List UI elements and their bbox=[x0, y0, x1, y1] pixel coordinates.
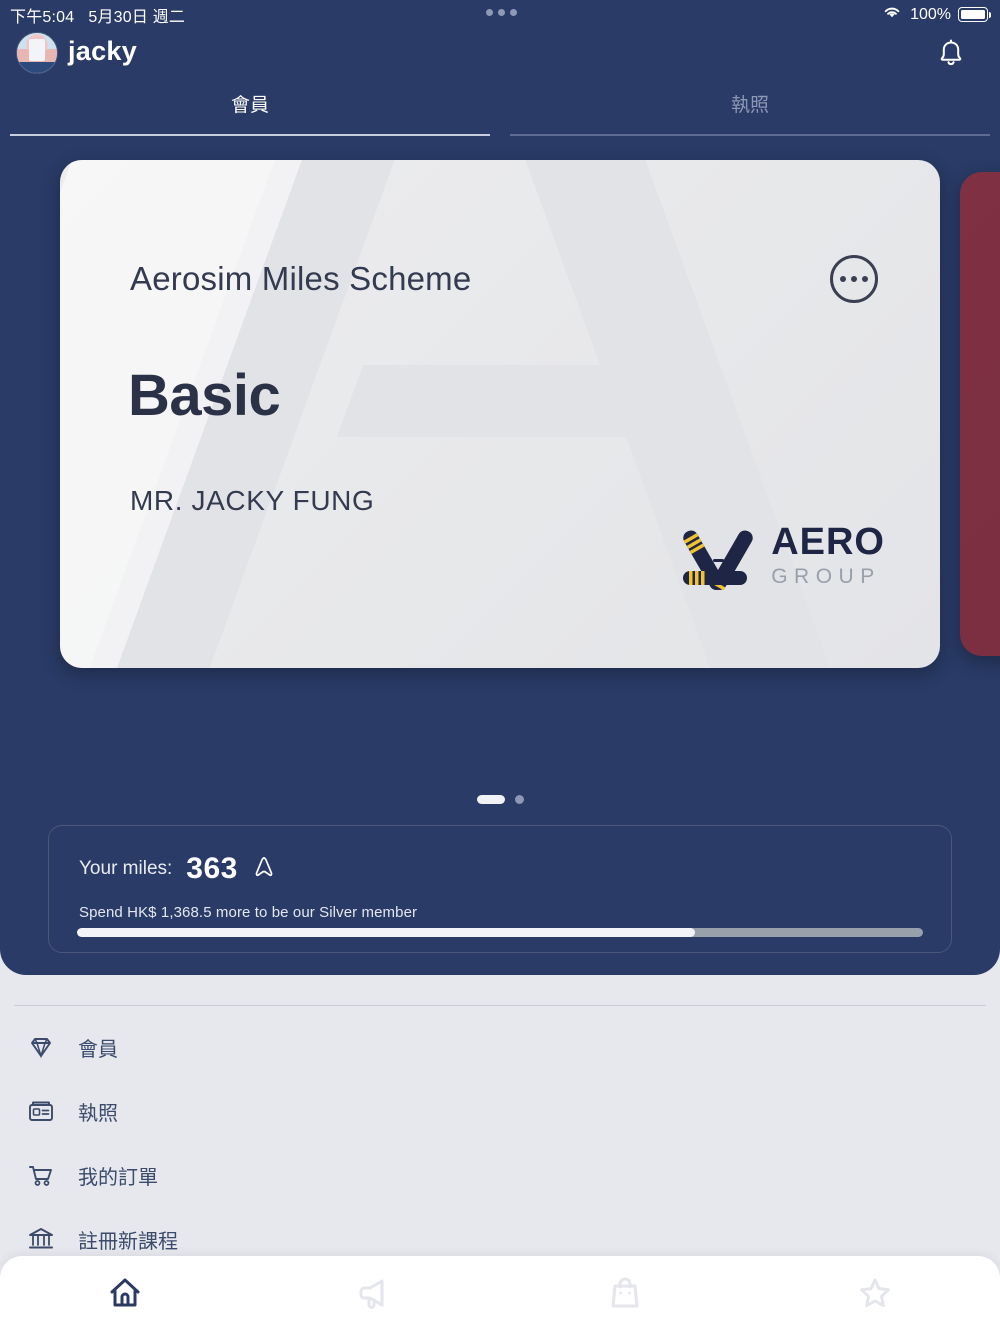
battery-percent-label: 100% bbox=[910, 6, 951, 24]
menu-item-enroll-course-label: 註冊新課程 bbox=[78, 1225, 178, 1254]
status-date: 5月30日 週二 bbox=[88, 3, 185, 27]
miles-progress-track bbox=[77, 928, 923, 937]
app-header: jacky bbox=[0, 28, 1000, 78]
top-navy-panel: 下午5:04 5月30日 週二 100% jacky bbox=[0, 0, 1000, 975]
tab-licenses-underline bbox=[510, 134, 990, 136]
membership-card-carousel[interactable]: Aerosim Miles Scheme Basic MR. JACKY FUN… bbox=[0, 160, 1000, 675]
tab-licenses[interactable]: 執照 bbox=[500, 84, 1000, 136]
nav-favorites[interactable] bbox=[750, 1256, 1000, 1334]
membership-card-primary[interactable]: Aerosim Miles Scheme Basic MR. JACKY FUN… bbox=[60, 160, 940, 668]
logo-primary-text: AERO bbox=[771, 523, 885, 561]
bank-icon bbox=[18, 1224, 64, 1254]
menu-item-members-label: 會員 bbox=[78, 1033, 118, 1062]
tab-members-label: 會員 bbox=[231, 84, 269, 117]
shopping-bag-icon bbox=[602, 1270, 648, 1321]
carousel-page-indicator[interactable] bbox=[0, 795, 1000, 804]
membership-card-secondary[interactable] bbox=[960, 172, 1000, 656]
menu-item-licenses[interactable]: 執照 bbox=[0, 1079, 1000, 1143]
card-tier-label: Basic bbox=[128, 362, 280, 429]
nav-shop[interactable] bbox=[500, 1256, 750, 1334]
tab-members-underline bbox=[10, 134, 490, 136]
miles-progress-fill bbox=[77, 928, 695, 937]
tab-bar: 會員 執照 bbox=[0, 84, 1000, 136]
bottom-navigation-bar bbox=[0, 1256, 1000, 1334]
miles-summary-box: Your miles: 363 Spend HK$ 1,368.5 more t… bbox=[48, 825, 952, 953]
logo-secondary-text: GROUP bbox=[771, 566, 885, 587]
more-options-icon[interactable] bbox=[830, 255, 878, 303]
megaphone-icon bbox=[352, 1270, 398, 1321]
carousel-dot-active[interactable] bbox=[477, 795, 505, 804]
battery-icon bbox=[958, 7, 988, 22]
star-icon bbox=[852, 1270, 898, 1321]
menu-item-members[interactable]: 會員 bbox=[0, 1015, 1000, 1079]
license-card-icon bbox=[18, 1096, 64, 1126]
status-time: 下午5:04 bbox=[10, 3, 74, 27]
diamond-icon bbox=[18, 1032, 64, 1062]
menu-list: 會員 執照 我的訂單 bbox=[0, 1015, 1000, 1271]
card-scheme-name: Aerosim Miles Scheme bbox=[130, 260, 471, 298]
miles-value: 363 bbox=[186, 852, 238, 886]
menu-divider bbox=[14, 1005, 986, 1006]
shopping-cart-icon bbox=[18, 1160, 64, 1190]
status-bar-dots-indicator bbox=[486, 9, 517, 16]
wifi-icon bbox=[881, 4, 903, 25]
menu-item-my-orders[interactable]: 我的訂單 bbox=[0, 1143, 1000, 1207]
miles-upgrade-hint: Spend HK$ 1,368.5 more to be our Silver … bbox=[79, 904, 417, 921]
card-holder-name: MR. JACKY FUNG bbox=[130, 485, 374, 517]
home-icon bbox=[102, 1270, 148, 1321]
bell-icon[interactable] bbox=[932, 34, 970, 72]
tab-licenses-label: 執照 bbox=[731, 84, 769, 117]
nav-announcements[interactable] bbox=[250, 1256, 500, 1334]
tab-members[interactable]: 會員 bbox=[0, 84, 500, 136]
nav-home[interactable] bbox=[0, 1256, 250, 1334]
menu-item-my-orders-label: 我的訂單 bbox=[78, 1161, 158, 1190]
status-bar: 下午5:04 5月30日 週二 100% bbox=[0, 0, 1000, 30]
status-bar-left: 下午5:04 5月30日 週二 bbox=[10, 3, 185, 27]
aero-logo-mark-icon bbox=[679, 511, 757, 598]
miles-label: Your miles: bbox=[79, 858, 172, 880]
status-bar-right: 100% bbox=[881, 4, 988, 25]
miles-arch-icon bbox=[252, 854, 276, 885]
aero-group-logo: AERO GROUP bbox=[679, 511, 885, 598]
carousel-dot-inactive[interactable] bbox=[515, 795, 524, 804]
miles-row: Your miles: 363 bbox=[79, 852, 276, 886]
menu-item-licenses-label: 執照 bbox=[78, 1097, 118, 1126]
username-label: jacky bbox=[68, 36, 137, 67]
avatar[interactable] bbox=[16, 32, 58, 74]
